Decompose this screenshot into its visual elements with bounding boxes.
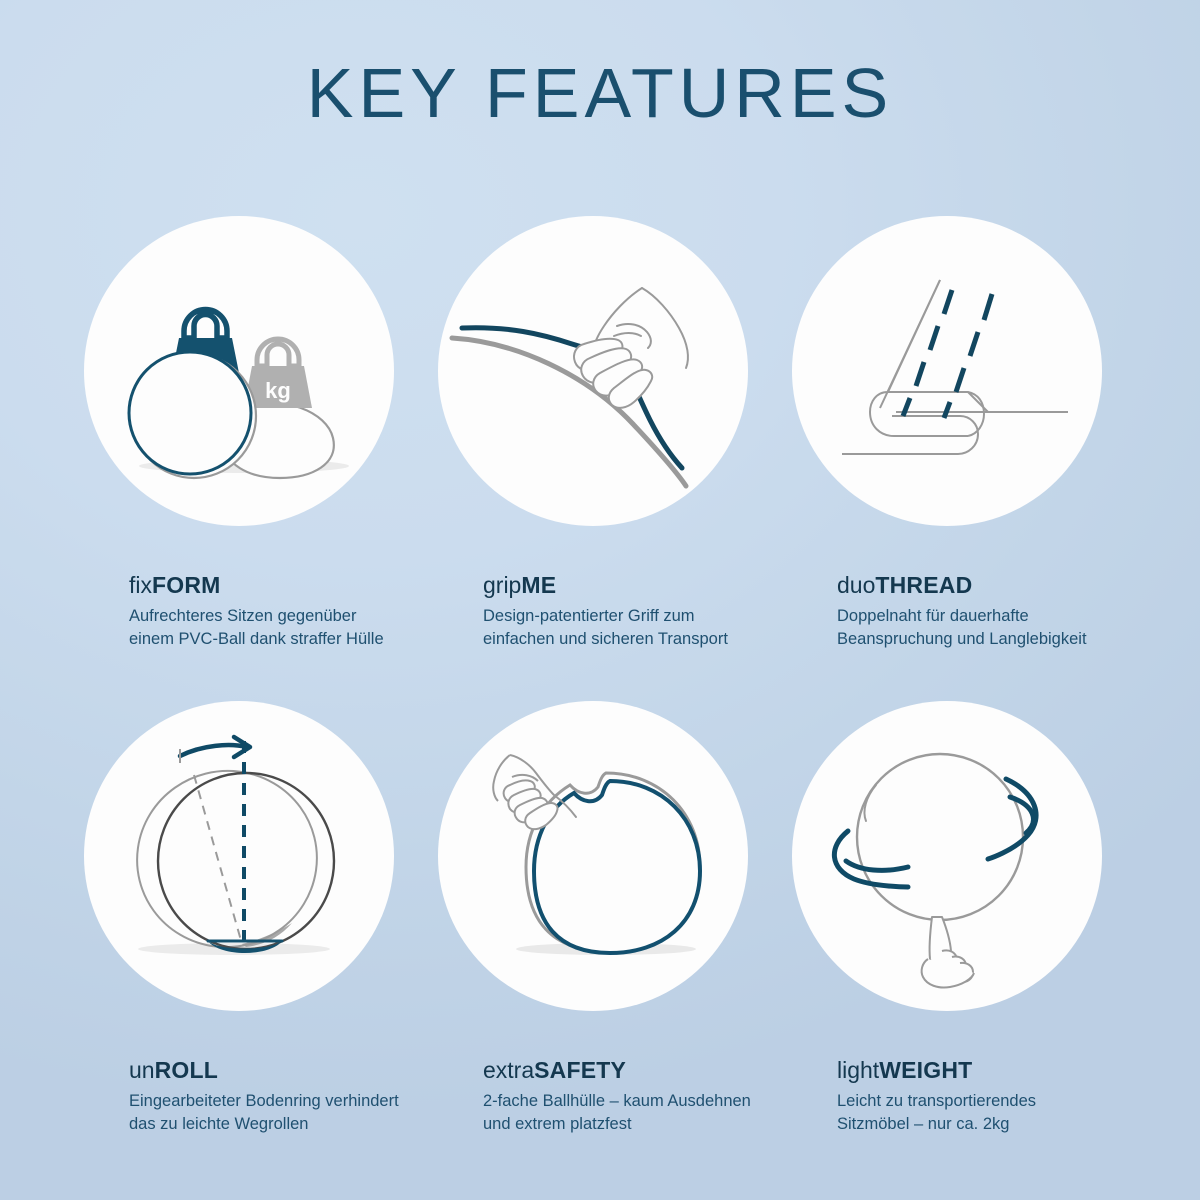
- feature-name-prefix: grip: [483, 572, 521, 598]
- feature-name: gripME: [483, 571, 783, 600]
- hand-grip-handle-icon: [438, 216, 748, 526]
- feature-name-prefix: extra: [483, 1057, 534, 1083]
- feature-description-line-2: Beanspruchung und Langlebigkeit: [837, 628, 1137, 651]
- feature-description-line-1: Leicht zu transportierendes: [837, 1090, 1137, 1113]
- feature-description: 2-fache Ballhülle – kaum Ausdehnen und e…: [483, 1090, 783, 1136]
- feature-card-fixform: kg kg fixFORM: [62, 216, 417, 701]
- feature-description-line-2: einfachen und sicheren Transport: [483, 628, 783, 651]
- feature-card-gripme: gripME Design-patentierter Griff zum ein…: [416, 216, 771, 701]
- feature-description-line-2: das zu leichte Wegrollen: [129, 1113, 429, 1136]
- svg-text:kg: kg: [265, 378, 291, 403]
- feature-name-prefix: fix: [129, 572, 152, 598]
- features-row-top: kg kg fixFORM: [0, 216, 1200, 701]
- feature-description-line-1: Eingearbeiteter Bodenring verhindert: [129, 1090, 429, 1113]
- feature-card-lightweight: lightWEIGHT Leicht zu transportierendes …: [770, 701, 1125, 1186]
- feature-name-prefix: light: [837, 1057, 879, 1083]
- feature-description: Eingearbeiteter Bodenring verhindert das…: [129, 1090, 429, 1136]
- feature-name-suffix: ROLL: [155, 1057, 218, 1083]
- features-grid: kg kg fixFORM: [0, 216, 1200, 1186]
- feature-name-prefix: un: [129, 1057, 155, 1083]
- ball-on-finger-spin-icon: [792, 701, 1102, 1011]
- feature-name: unROLL: [129, 1056, 429, 1085]
- feature-card-duothread: duoTHREAD Doppelnaht für dauerhafte Bean…: [770, 216, 1125, 701]
- feature-caption: extraSAFETY 2-fache Ballhülle – kaum Aus…: [483, 1056, 783, 1136]
- page-title: KEY FEATURES: [0, 54, 1200, 132]
- feature-name-prefix: duo: [837, 572, 875, 598]
- feature-description-line-1: Design-patentierter Griff zum: [483, 605, 783, 628]
- feature-name: extraSAFETY: [483, 1056, 783, 1085]
- feature-name-suffix: FORM: [152, 572, 221, 598]
- feature-name-suffix: SAFETY: [534, 1057, 626, 1083]
- feature-description-line-1: 2-fache Ballhülle – kaum Ausdehnen: [483, 1090, 783, 1113]
- feature-name: duoTHREAD: [837, 571, 1137, 600]
- feature-name-suffix: THREAD: [875, 572, 972, 598]
- feature-description-line-2: Sitzmöbel – nur ca. 2kg: [837, 1113, 1137, 1136]
- feature-caption: duoTHREAD Doppelnaht für dauerhafte Bean…: [837, 571, 1137, 651]
- feature-description-line-1: Doppelnaht für dauerhafte: [837, 605, 1137, 628]
- feature-name: lightWEIGHT: [837, 1056, 1137, 1085]
- ball-tilt-base-ring-icon: [84, 701, 394, 1011]
- feature-card-unroll: unROLL Eingearbeiteter Bodenring verhind…: [62, 701, 417, 1186]
- feature-name-suffix: ME: [521, 572, 556, 598]
- feature-caption: gripME Design-patentierter Griff zum ein…: [483, 571, 783, 651]
- feature-card-extrasafety: extraSAFETY 2-fache Ballhülle – kaum Aus…: [416, 701, 771, 1186]
- feature-description-line-2: und extrem platzfest: [483, 1113, 783, 1136]
- feature-description: Doppelnaht für dauerhafte Beanspruchung …: [837, 605, 1137, 651]
- feature-description: Leicht zu transportierendes Sitzmöbel – …: [837, 1090, 1137, 1136]
- double-seam-stitch-icon: [792, 216, 1102, 526]
- feature-name: fixFORM: [129, 571, 429, 600]
- key-features-infographic: KEY FEATURES kg: [0, 0, 1200, 1200]
- hand-press-double-cover-icon: [438, 701, 748, 1011]
- features-row-bottom: unROLL Eingearbeiteter Bodenring verhind…: [0, 701, 1200, 1186]
- feature-caption: lightWEIGHT Leicht zu transportierendes …: [837, 1056, 1137, 1136]
- feature-description-line-2: einem PVC-Ball dank straffer Hülle: [129, 628, 429, 651]
- feature-description: Aufrechteres Sitzen gegenüber einem PVC-…: [129, 605, 429, 651]
- feature-name-suffix: WEIGHT: [879, 1057, 972, 1083]
- feature-description-line-1: Aufrechteres Sitzen gegenüber: [129, 605, 429, 628]
- feature-description: Design-patentierter Griff zum einfachen …: [483, 605, 783, 651]
- weights-on-ball-icon: kg kg: [84, 216, 394, 526]
- feature-caption: unROLL Eingearbeiteter Bodenring verhind…: [129, 1056, 429, 1136]
- feature-caption: fixFORM Aufrechteres Sitzen gegenüber ei…: [129, 571, 429, 651]
